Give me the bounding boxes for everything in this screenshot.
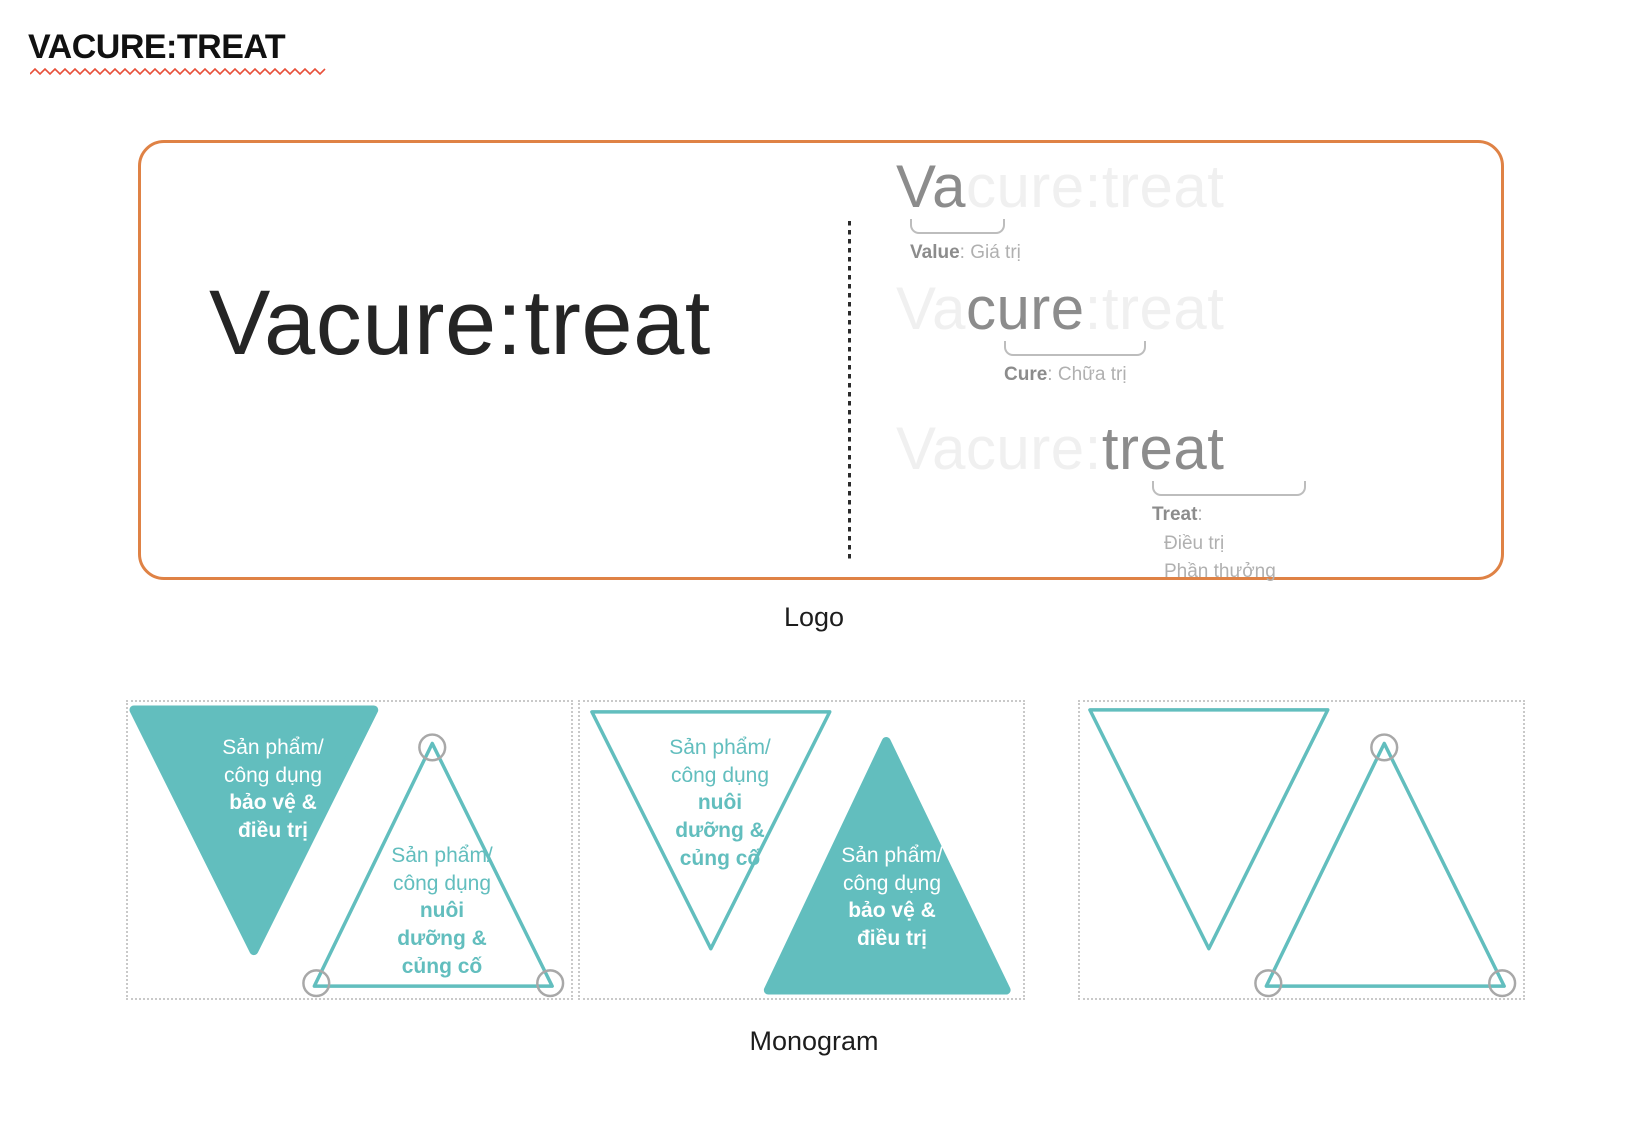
label-line-4: dưỡng & <box>675 819 765 842</box>
triangle-label-nourish-2: Sản phẩm/ công dụng nuôi dưỡng & củng cố <box>630 734 810 873</box>
logo-wordmark-part2: treat <box>524 272 711 374</box>
up-triangle-outline <box>1266 743 1504 986</box>
label-line-1: Sản phẩm/ <box>183 734 363 762</box>
breakdown-caption-rest-value: : Giá trị <box>960 242 1021 263</box>
monogram-panel-1: Sản phẩm/ công dụng bảo vệ & điều trị Sả… <box>126 700 573 1000</box>
label-line-3: nuôi <box>420 899 464 922</box>
breakdown-dim-before-cure: Va <box>896 275 966 342</box>
breakdown-dim-before-treat: Vacure: <box>896 415 1102 482</box>
label-line-4: dưỡng & <box>397 927 487 950</box>
breakdown-caption-bold-cure: Cure <box>1004 364 1047 385</box>
brace-value <box>910 219 1005 234</box>
breakdown-caption-cure: Cure: Chữa trị <box>1004 361 1127 390</box>
label-line-4: điều trị <box>238 819 308 842</box>
label-line-1: Sản phẩm/ <box>802 842 982 870</box>
breakdown-caption-value: Value: Giá trị <box>910 239 1021 268</box>
section-caption-logo: Logo <box>0 602 1628 633</box>
breakdown-highlight-value: Va <box>896 153 966 220</box>
breakdown-row-value: Vacure:treat Value: Giá trị <box>896 153 1366 220</box>
label-line-2: công dụng <box>630 762 810 790</box>
label-line-4: điều trị <box>857 927 927 950</box>
breakdown-meaning-treat-1: Điều trị <box>1152 530 1276 559</box>
triangle-label-nourish-1: Sản phẩm/ công dụng nuôi dưỡng & củng cố <box>352 842 532 981</box>
label-line-2: công dụng <box>183 762 363 790</box>
breakdown-row-cure: Vacure:treat Cure: Chữa trị <box>896 275 1366 342</box>
breakdown-wordmark-cure: Vacure:treat <box>896 275 1366 342</box>
down-triangle-outline <box>1090 710 1328 949</box>
label-line-5: củng cố <box>680 847 761 870</box>
breakdown-wordmark-treat: Vacure:treat <box>896 415 1366 482</box>
logo-wordmark-part1: Vacure <box>209 272 497 374</box>
breakdown-caption-rest-cure: : Chữa trị <box>1047 364 1126 385</box>
spellcheck-squiggle-icon <box>30 68 326 76</box>
monogram-panel-2: Sản phẩm/ công dụng nuôi dưỡng & củng cố… <box>578 700 1025 1000</box>
triangle-label-protect-1: Sản phẩm/ công dụng bảo vệ & điều trị <box>183 734 363 845</box>
breakdown-dim-after-value: cure:treat <box>966 153 1224 220</box>
label-line-1: Sản phẩm/ <box>352 842 532 870</box>
label-line-3: bảo vệ & <box>848 899 936 922</box>
brace-cure <box>1004 341 1146 356</box>
breakdown-highlight-treat: treat <box>1102 415 1225 482</box>
label-line-3: nuôi <box>698 791 742 814</box>
dotted-divider <box>848 221 851 561</box>
logo-wordmark: Vacure:treat <box>209 271 711 376</box>
label-line-2: công dụng <box>352 870 532 898</box>
breakdown-caption-treat: Treat: Điều trị Phần thưởng <box>1152 501 1276 587</box>
breakdown-wordmark-value: Vacure:treat <box>896 153 1366 220</box>
logo-card: Vacure:treat Vacure:treat Value: Giá trị… <box>138 140 1504 580</box>
brace-treat <box>1152 481 1306 496</box>
triangle-label-protect-2: Sản phẩm/ công dụng bảo vệ & điều trị <box>802 842 982 953</box>
logo-wordmark-colon: : <box>497 272 525 374</box>
label-line-2: công dụng <box>802 870 982 898</box>
page-title: VACURE:TREAT <box>28 28 285 67</box>
label-line-1: Sản phẩm/ <box>630 734 810 762</box>
breakdown-caption-rest-treat: : <box>1197 504 1202 525</box>
section-caption-monogram: Monogram <box>0 1026 1628 1057</box>
monogram-panel-3 <box>1078 700 1525 1000</box>
breakdown-highlight-cure: cure <box>966 275 1085 342</box>
label-line-5: củng cố <box>402 955 483 978</box>
breakdown-meaning-treat-2: Phần thưởng <box>1152 558 1276 587</box>
monogram-shapes-3 <box>1080 702 1523 998</box>
breakdown-caption-bold-value: Value <box>910 242 960 263</box>
label-line-3: bảo vệ & <box>229 791 317 814</box>
breakdown-row-treat: Vacure:treat Treat: Điều trị Phần thưởng <box>896 415 1366 482</box>
breakdown-dim-after-cure: :treat <box>1085 275 1225 342</box>
breakdown-caption-bold-treat: Treat <box>1152 504 1197 525</box>
